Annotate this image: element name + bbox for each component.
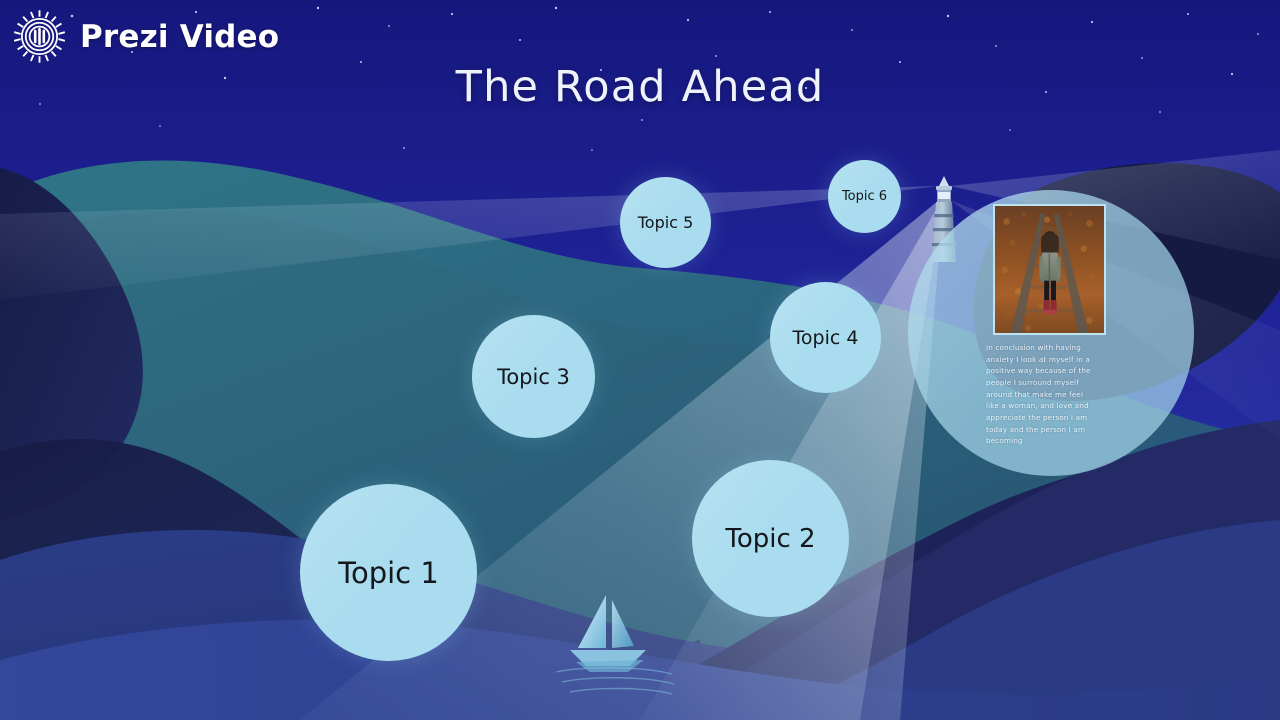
topic-bubble-1-label: Topic 1 — [338, 556, 439, 590]
prezi-radial-logo-icon — [12, 9, 67, 64]
slide-canvas: Prezi Video The Road Ahead Topic 1 Topic… — [0, 0, 1280, 720]
prezi-video-brand: Prezi Video — [12, 9, 279, 64]
page-title: The Road Ahead — [0, 62, 1280, 112]
railroad-photo — [993, 204, 1106, 335]
brand-name: Prezi Video — [80, 19, 279, 55]
topic-bubble-4-label: Topic 4 — [793, 327, 859, 349]
topic-bubble-3[interactable]: Topic 3 — [472, 315, 595, 438]
topic-bubble-2[interactable]: Topic 2 — [692, 460, 849, 617]
content-bubble-caption: In conclusion with having anxiety I look… — [986, 342, 1096, 447]
topic-bubble-2-label: Topic 2 — [725, 524, 815, 554]
topic-bubble-4[interactable]: Topic 4 — [770, 282, 881, 393]
topic-bubble-3-label: Topic 3 — [497, 365, 570, 389]
topic-bubble-1[interactable]: Topic 1 — [300, 484, 477, 661]
topic-bubble-6[interactable]: Topic 6 — [828, 160, 901, 233]
topic-bubble-6-label: Topic 6 — [842, 189, 887, 204]
content-bubble[interactable]: In conclusion with having anxiety I look… — [908, 190, 1194, 476]
topic-bubble-5-label: Topic 5 — [638, 213, 694, 232]
topic-bubble-5[interactable]: Topic 5 — [620, 177, 711, 268]
